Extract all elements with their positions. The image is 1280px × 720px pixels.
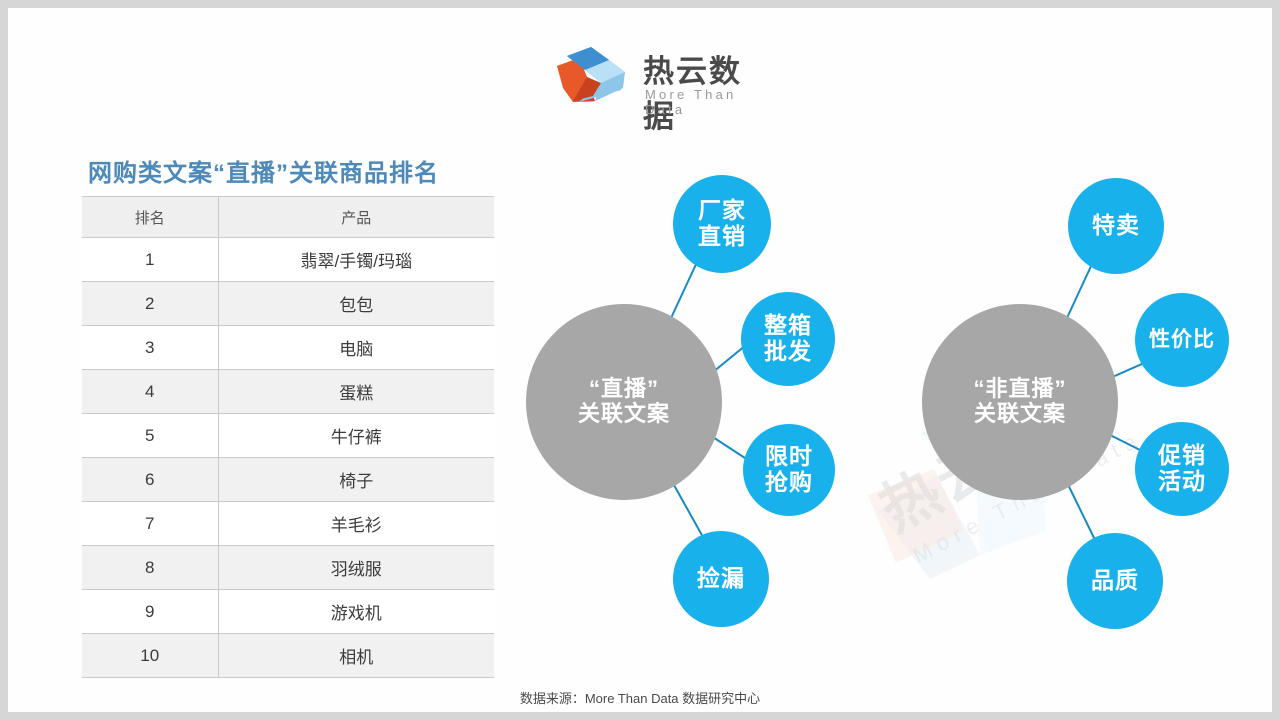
leaf-bubble-special-sale[interactable]: 特卖 [1068,178,1164,274]
slide-canvas: 热云数据 More Than Data 热云数据 More Than Data [8,8,1272,712]
source-footnote: 数据来源：More Than Data 数据研究中心 [8,688,1272,707]
leaf-label-line1: 特卖 [1092,212,1140,238]
hub-label-line2: 关联文案 [974,401,1066,426]
hub-label: “非直播” 关联文案 [973,377,1066,426]
leaf-label-line1: 品质 [1091,567,1139,593]
leaf-label-line2: 活动 [1158,468,1206,494]
leaf-label: 性价比 [1149,328,1215,352]
leaf-label-line1: 性价比 [1149,328,1215,351]
leaf-bubble-value-for-money[interactable]: 性价比 [1135,293,1229,387]
leaf-label: 特卖 [1092,213,1140,239]
leaf-bubble-promotion-activity[interactable]: 促销 活动 [1135,422,1229,516]
leaf-bubble-quality[interactable]: 品质 [1067,533,1163,629]
hub-bubble-non-live[interactable]: “非直播” 关联文案 [922,304,1118,500]
leaf-label: 品质 [1091,568,1139,594]
hub-label-line1: “非直播” [973,376,1066,401]
leaf-label: 促销 活动 [1158,443,1206,495]
leaf-label-line1: 促销 [1158,442,1206,468]
cluster-non-live: “非直播” 关联文案 特卖 性价比 促销 活动 品质 [8,8,1272,712]
